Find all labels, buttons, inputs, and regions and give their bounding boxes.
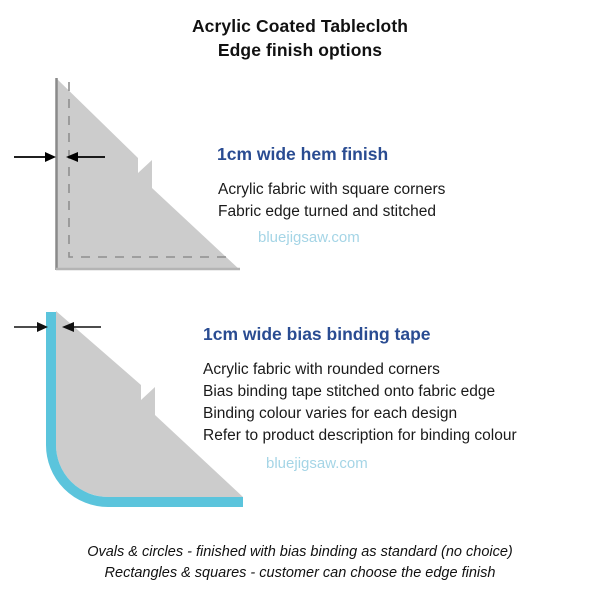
bias-binding-heading: 1cm wide bias binding tape	[203, 323, 598, 345]
tablecloth-edge-finish-infographic: Acrylic Coated Tablecloth Edge finish op…	[0, 0, 600, 600]
footer-line-1: Ovals & circles - finished with bias bin…	[0, 542, 600, 563]
bias-binding-line-2: Bias binding tape stitched onto fabric e…	[203, 381, 598, 403]
page-title-line-1: Acrylic Coated Tablecloth	[0, 14, 600, 38]
hem-finish-line-2: Fabric edge turned and stitched	[218, 201, 598, 223]
hem-finish-watermark: bluejigsaw.com	[258, 227, 598, 249]
bias-binding-line-1: Acrylic fabric with rounded corners	[203, 359, 598, 381]
bias-binding-text-panel: 1cm wide bias binding tape Acrylic fabri…	[203, 323, 598, 475]
hem-finish-heading: 1cm wide hem finish	[217, 143, 598, 165]
hem-finish-text-panel: 1cm wide hem finish Acrylic fabric with …	[208, 143, 598, 249]
page-title: Acrylic Coated Tablecloth Edge finish op…	[0, 14, 600, 62]
page-title-line-2: Edge finish options	[0, 38, 600, 62]
hem-finish-line-1: Acrylic fabric with square corners	[218, 179, 598, 201]
bias-binding-line-4: Refer to product description for binding…	[203, 425, 598, 447]
footer-line-2: Rectangles & squares - customer can choo…	[0, 563, 600, 584]
bias-binding-watermark: bluejigsaw.com	[266, 453, 598, 475]
bias-binding-line-3: Binding colour varies for each design	[203, 403, 598, 425]
footer-note: Ovals & circles - finished with bias bin…	[0, 542, 600, 584]
